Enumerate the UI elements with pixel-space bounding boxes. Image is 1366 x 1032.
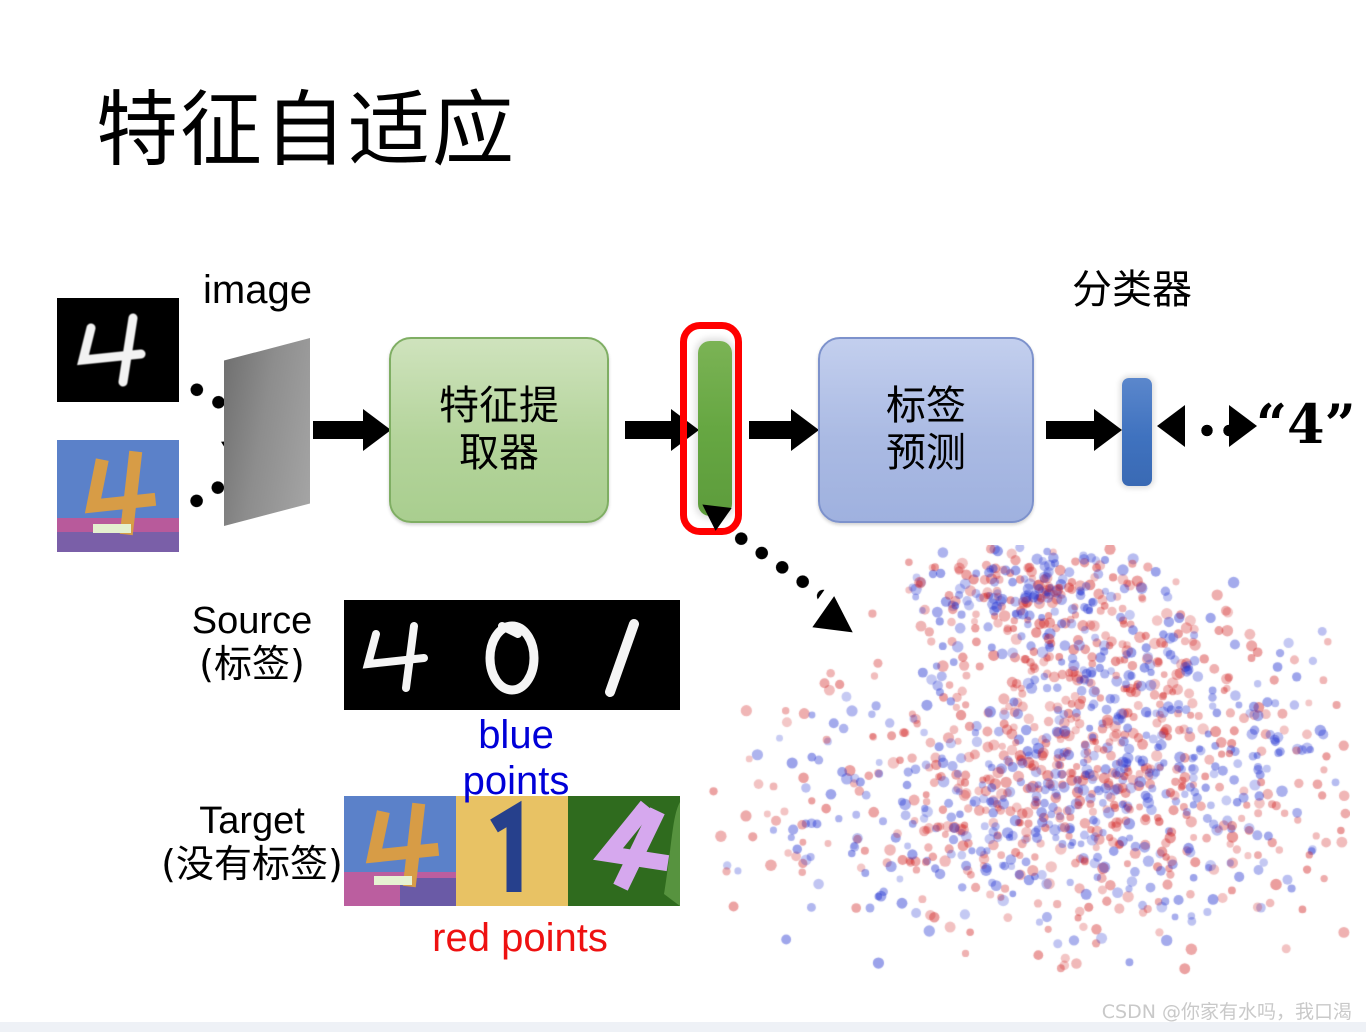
arrow-plane-to-feature-extractor bbox=[313, 421, 365, 439]
feature-extractor-box[interactable]: 特征提 取器 bbox=[389, 337, 609, 523]
scatter-canvas bbox=[690, 545, 1350, 975]
target-sample-strip bbox=[344, 796, 680, 906]
predicted-class-label: “4” bbox=[1256, 392, 1356, 456]
blue-points-line2: points bbox=[396, 758, 636, 804]
feature-extractor-label-line2: 取器 bbox=[439, 430, 559, 477]
target-input-thumbnail bbox=[57, 440, 179, 552]
label-predictor-box[interactable]: 标签 预测 bbox=[818, 337, 1034, 523]
class-output-bar[interactable] bbox=[1122, 378, 1152, 486]
arrow-feature-extractor-to-feature-vector bbox=[625, 421, 673, 439]
source-input-thumbnail bbox=[57, 298, 179, 402]
label-predictor-label-line1: 标签 bbox=[886, 383, 966, 430]
source-dataset-label: Source (标签) bbox=[152, 600, 352, 685]
arrowhead-prediction-right bbox=[1229, 405, 1257, 447]
target-sample-0 bbox=[344, 796, 456, 906]
image-label: image bbox=[203, 268, 312, 313]
target-sample-2 bbox=[568, 796, 680, 906]
arrow-label-predictor-to-class-bar bbox=[1046, 421, 1096, 439]
source-sample-2 bbox=[568, 600, 680, 710]
source-sample-1 bbox=[456, 600, 568, 710]
arrowhead-prediction-left bbox=[1157, 405, 1185, 447]
source-sample-0 bbox=[344, 600, 456, 710]
source-label-line2: (标签) bbox=[152, 643, 352, 686]
page-title: 特征自适应 bbox=[96, 88, 516, 174]
watermark-text: CSDN @你家有水吗，我口渴 bbox=[1102, 997, 1352, 1024]
label-predictor-label-line2: 预测 bbox=[886, 430, 966, 477]
arrow-feature-vector-to-label-predictor bbox=[749, 421, 793, 439]
source-label-line1: Source bbox=[152, 600, 352, 643]
red-points-legend-label: red points bbox=[390, 916, 650, 961]
blue-points-line1: blue bbox=[396, 712, 636, 758]
blue-points-legend-label: blue points bbox=[396, 712, 636, 804]
target-label-line2: (没有标签) bbox=[132, 843, 372, 886]
target-dataset-label: Target (没有标签) bbox=[132, 800, 372, 885]
classifier-label: 分类器 bbox=[1072, 268, 1192, 313]
source-sample-strip bbox=[344, 600, 680, 710]
target-label-line1: Target bbox=[132, 800, 372, 843]
feature-embedding-scatter-plot bbox=[690, 545, 1350, 975]
target-sample-1 bbox=[456, 796, 568, 906]
feature-extractor-label-line1: 特征提 bbox=[439, 383, 559, 430]
image-plane-icon bbox=[224, 338, 310, 526]
